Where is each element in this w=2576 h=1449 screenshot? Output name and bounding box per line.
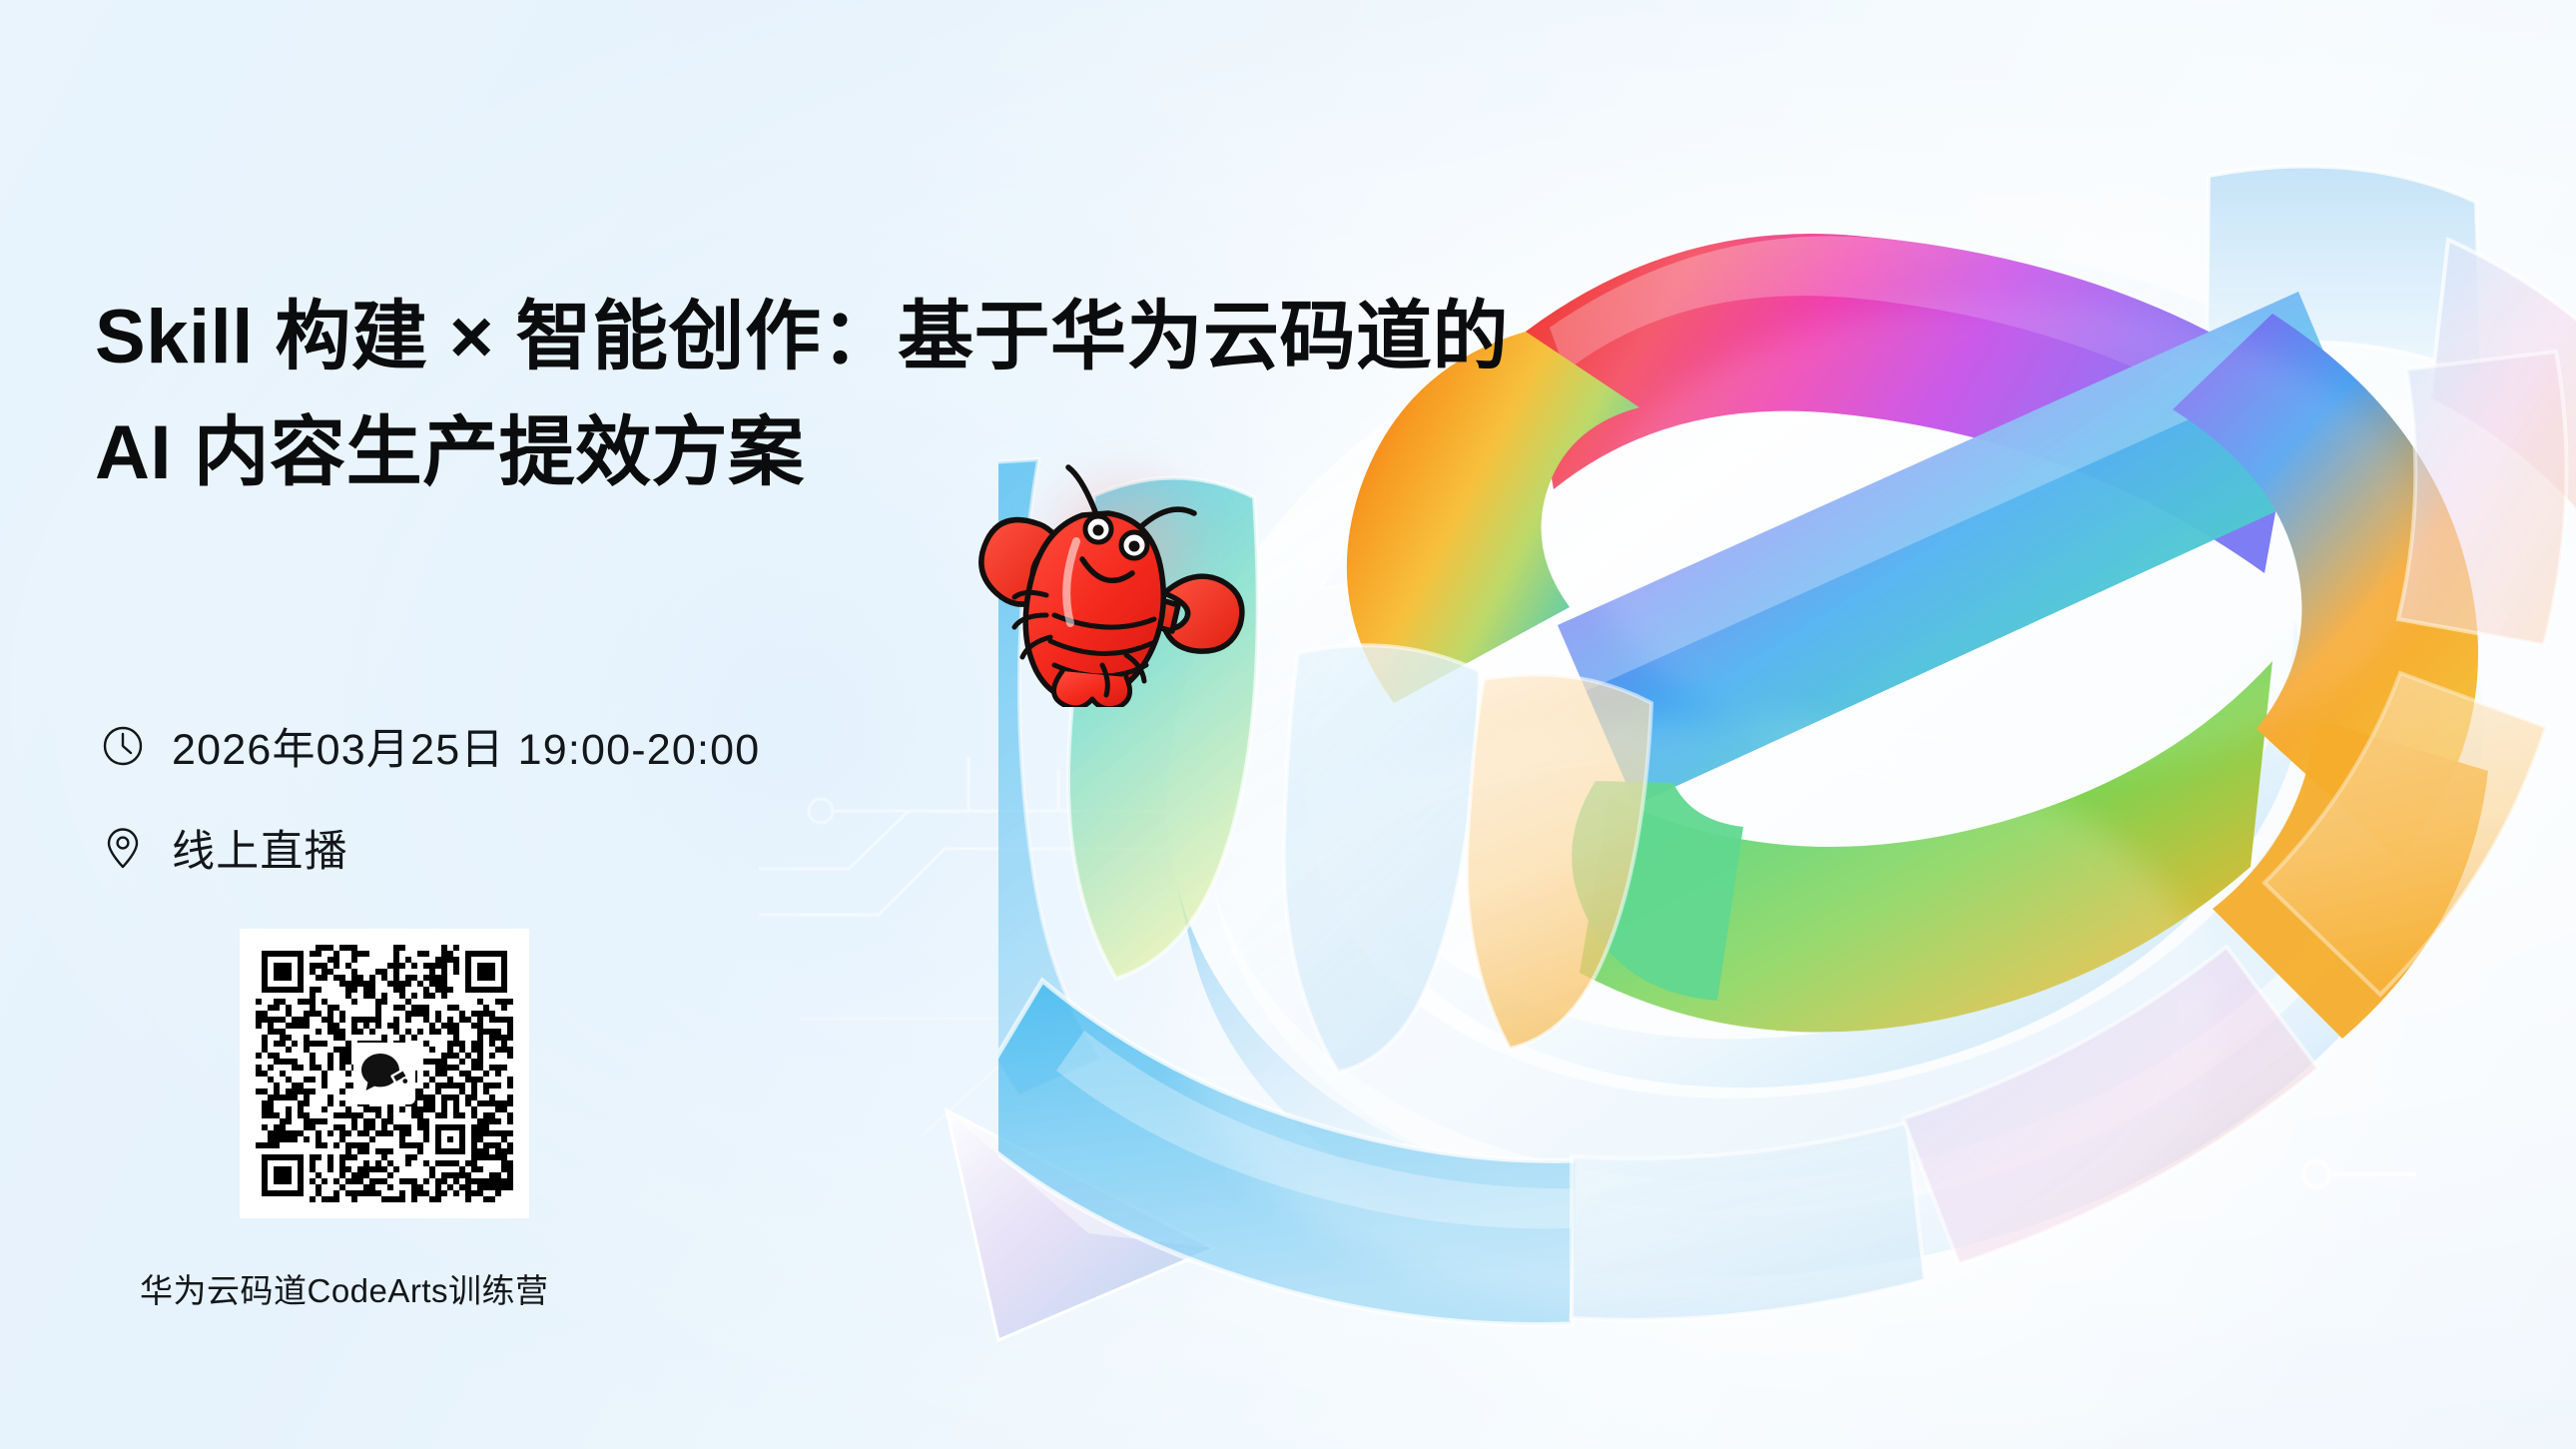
event-datetime-text: 2026年03月25日 19:00-20:00 [172, 715, 760, 777]
qr-code-caption: 华为云码道CodeArts训练营 [140, 1264, 549, 1312]
speech-bubble-megaphone-icon [353, 1043, 415, 1104]
title-line-1: Skill 构建 × 智能创作：基于华为云码道的 [95, 280, 1213, 395]
poster-canvas: Skill 构建 × 智能创作：基于华为云码道的 AI 内容生产提效方案 202… [0, 0, 2576, 1449]
event-location-row: 线上直播 [100, 817, 348, 879]
qr-code-card[interactable] [240, 929, 529, 1218]
qr-code-block[interactable] [240, 929, 529, 1218]
qr-code-image[interactable] [256, 945, 513, 1202]
location-pin-icon [100, 825, 146, 871]
clock-icon [100, 723, 146, 769]
event-datetime-row: 2026年03月25日 19:00-20:00 [100, 715, 760, 777]
event-location-text: 线上直播 [172, 817, 348, 879]
lobster-sticker [951, 417, 1250, 707]
content-column: Skill 构建 × 智能创作：基于华为云码道的 AI 内容生产提效方案 202… [0, 0, 1248, 1449]
